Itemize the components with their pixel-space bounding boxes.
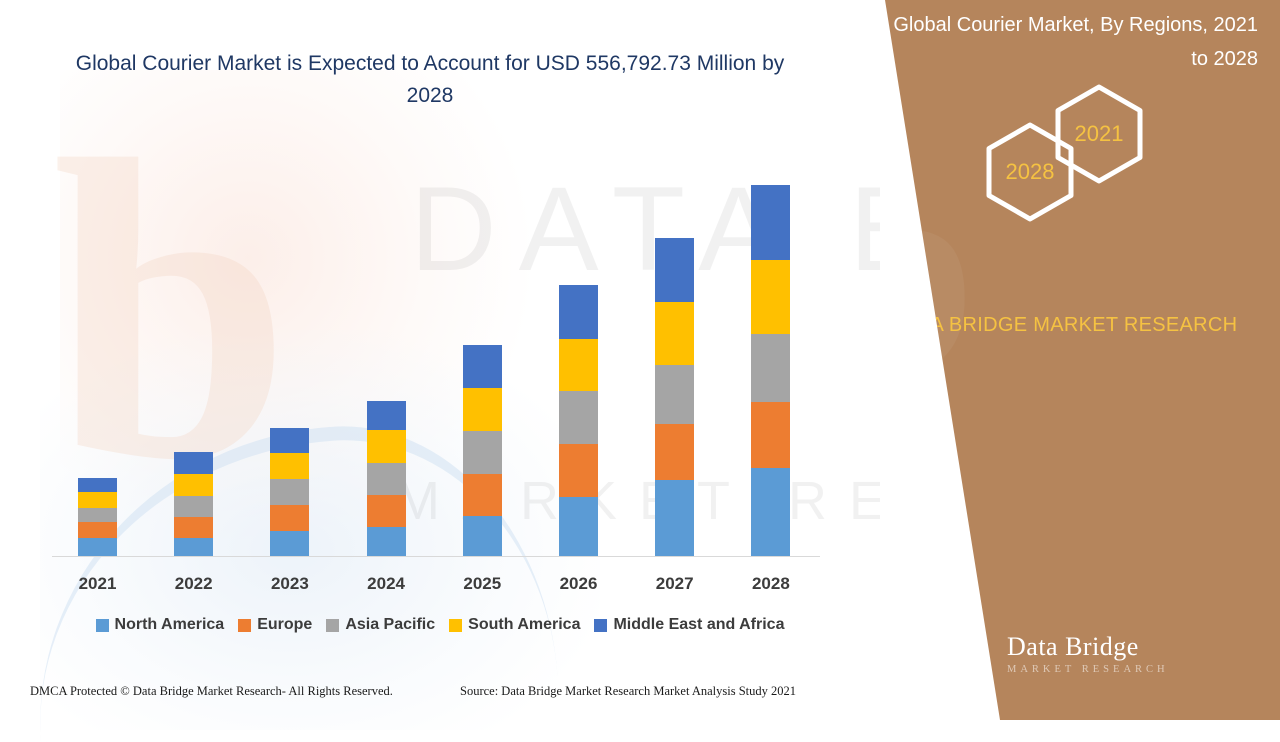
x-axis-tick-labels: 20212022202320242025202620272028 xyxy=(0,574,880,600)
legend-label: Asia Pacific xyxy=(345,616,435,634)
chart-legend: North AmericaEuropeAsia PacificSouth Ame… xyxy=(50,616,830,634)
legend-item-asia-pacific[interactable]: Asia Pacific xyxy=(326,616,435,634)
hexagon-2021: 2021 xyxy=(1049,82,1149,198)
background-blob-pink xyxy=(60,70,530,540)
legend-swatch-icon xyxy=(594,619,607,632)
logo-text-block: Data Bridge MARKET RESEARCH xyxy=(1007,632,1169,675)
legend-item-south-america[interactable]: South America xyxy=(449,616,580,634)
legend-swatch-icon xyxy=(238,619,251,632)
legend-item-europe[interactable]: Europe xyxy=(238,616,312,634)
legend-swatch-icon xyxy=(449,619,462,632)
footer: DMCA Protected © Data Bridge Market Rese… xyxy=(0,684,860,708)
x-tick-label-2025: 2025 xyxy=(437,574,527,594)
chart-title: Global Courier Market is Expected to Acc… xyxy=(50,48,810,112)
footer-copyright: DMCA Protected © Data Bridge Market Rese… xyxy=(30,684,393,699)
x-tick-label-2024: 2024 xyxy=(341,574,431,594)
background-blob-blue xyxy=(40,330,600,730)
x-tick-label-2028: 2028 xyxy=(726,574,816,594)
x-tick-label-2027: 2027 xyxy=(630,574,720,594)
legend-label: South America xyxy=(468,616,580,634)
legend-swatch-icon xyxy=(96,619,109,632)
legend-item-middle-east-and-africa[interactable]: Middle East and Africa xyxy=(594,616,784,634)
hexagon-2021-label: 2021 xyxy=(1049,121,1149,147)
x-tick-label-2022: 2022 xyxy=(149,574,239,594)
legend-label: Middle East and Africa xyxy=(613,616,784,634)
legend-label: North America xyxy=(115,616,225,634)
legend-swatch-icon xyxy=(326,619,339,632)
background-letter-b-icon: b xyxy=(52,96,277,526)
x-tick-label-2021: 2021 xyxy=(53,574,143,594)
x-tick-label-2023: 2023 xyxy=(245,574,335,594)
logo-subtitle: MARKET RESEARCH xyxy=(1007,664,1169,675)
legend-label: Europe xyxy=(257,616,312,634)
x-tick-label-2026: 2026 xyxy=(534,574,624,594)
logo-title: Data Bridge xyxy=(1007,632,1169,662)
footer-source: Source: Data Bridge Market Research Mark… xyxy=(460,684,796,699)
legend-item-north-america[interactable]: North America xyxy=(96,616,225,634)
